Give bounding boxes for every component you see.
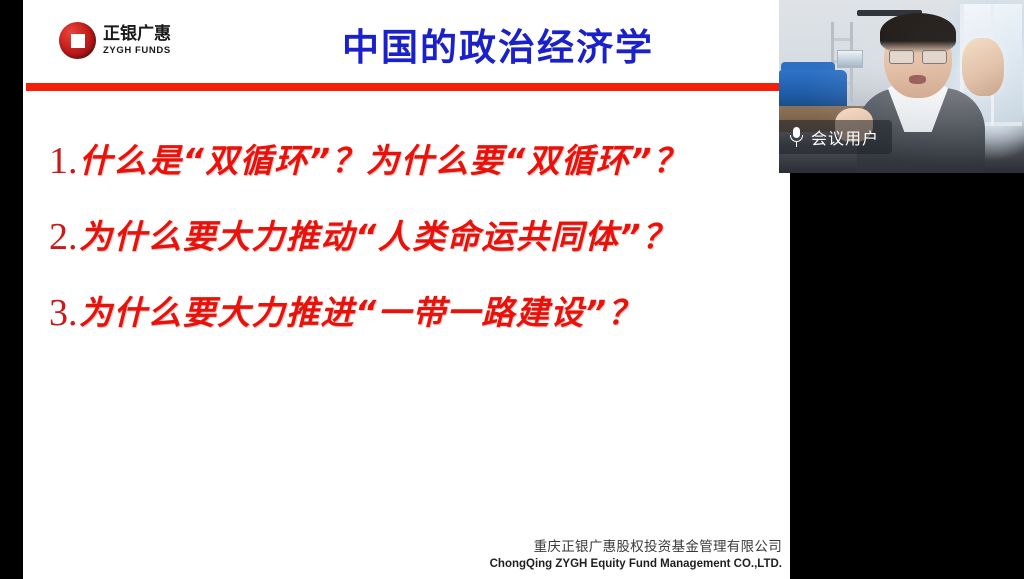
footer-company-cn: 重庆正银广惠股权投资基金管理有限公司 — [23, 539, 782, 556]
list-item-number: 1. — [37, 128, 79, 194]
list-item: 1. 什么是“双循环”？为什么要“双循环”？ — [23, 128, 790, 194]
slide-header: 正银广惠 ZYGH FUNDS 中国的政治经济学 — [23, 0, 790, 88]
list-item: 3. 为什么要大力推进“一带一路建设”？ — [23, 280, 790, 346]
list-item-text: 为什么要大力推动“人类命运共同体”？ — [79, 204, 776, 270]
header-divider — [26, 83, 790, 91]
question-list: 1. 什么是“双循环”？为什么要“双循环”？ 2. 为什么要大力推动“人类命运共… — [23, 128, 790, 356]
list-item-text: 什么是“双循环”？为什么要“双循环”？ — [79, 128, 776, 194]
logo-name-en: ZYGH FUNDS — [103, 46, 171, 56]
list-item-number: 2. — [37, 204, 79, 270]
page-title: 中国的政治经济学 — [263, 17, 733, 71]
screen-share-view: 正银广惠 ZYGH FUNDS 中国的政治经济学 1. 什么是“双循环”？为什么… — [0, 0, 1024, 579]
list-item-number: 3. — [37, 280, 79, 346]
logo-name-cn: 正银广惠 — [103, 26, 171, 43]
company-logo: 正银广惠 ZYGH FUNDS — [59, 22, 171, 59]
presentation-slide: 正银广惠 ZYGH FUNDS 中国的政治经济学 1. 什么是“双循环”？为什么… — [23, 0, 790, 579]
slide-footer: 重庆正银广惠股权投资基金管理有限公司 ChongQing ZYGH Equity… — [23, 539, 790, 571]
logo-text: 正银广惠 ZYGH FUNDS — [103, 26, 171, 56]
left-black-gutter — [0, 0, 23, 579]
list-item: 2. 为什么要大力推动“人类命运共同体”？ — [23, 204, 790, 270]
footer-company-en: ChongQing ZYGH Equity Fund Management CO… — [23, 557, 782, 571]
list-item-text: 为什么要大力推进“一带一路建设”？ — [79, 280, 776, 346]
participant-name-plate: 会议用户 — [779, 120, 892, 154]
zygh-logo-mark-icon — [59, 22, 96, 59]
microphone-icon[interactable] — [789, 127, 804, 148]
participant-video-tile[interactable]: 会议用户 — [779, 0, 1024, 173]
participant-name: 会议用户 — [811, 125, 879, 149]
